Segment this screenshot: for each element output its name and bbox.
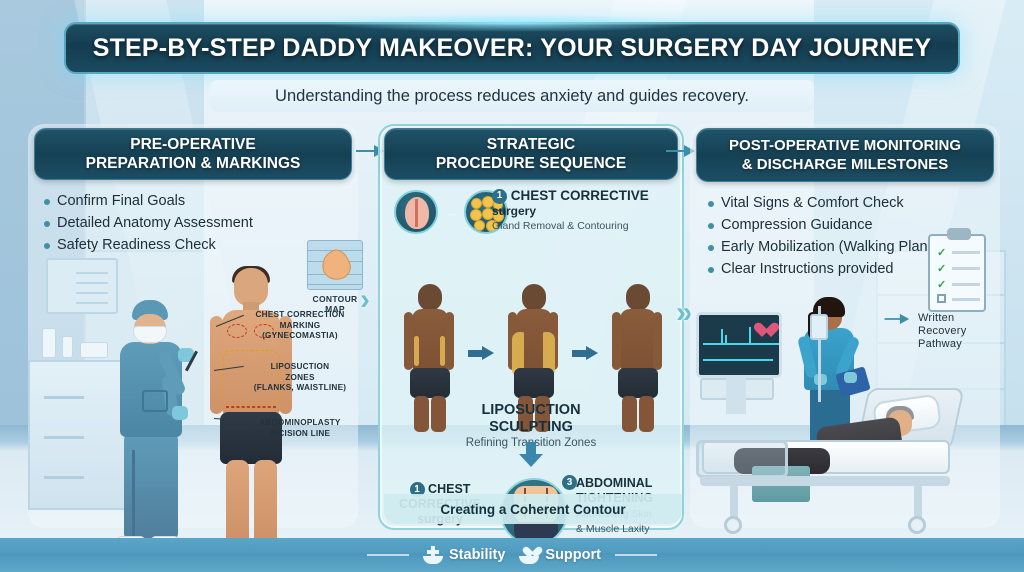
arrow-right-icon: → [444, 204, 458, 220]
panel-strategic-sequence-header: STRATEGIC PROCEDURE SEQUENCE [384, 128, 678, 180]
check-icon: ✓ [937, 246, 946, 259]
step-1-title: CHEST CORRECTIVE [511, 188, 649, 203]
footer-divider-right [615, 554, 657, 556]
arrow-step-2-to-3-icon [572, 346, 598, 360]
step-1-badge: 1 [492, 189, 507, 204]
abdominoplasty-incision-marking [226, 406, 276, 408]
page-title: STEP-BY-STEP DADDY MAKEOVER: YOUR SURGER… [93, 34, 932, 63]
arrow-step-1-to-2-icon [468, 346, 494, 360]
footer-label-support: Support [545, 547, 601, 563]
checklist-clipboard-icon: ✓ ✓ ✓ [928, 234, 986, 312]
subtitle-banner: Understanding the process reduces anxiet… [210, 80, 814, 112]
bullet-label: Safety Readiness Check [57, 236, 216, 255]
bullet-dot-icon [708, 245, 714, 251]
hand-medical-cross-icon [423, 546, 443, 564]
vitals-monitor-icon [696, 312, 782, 378]
footer-bar: Stability Support [0, 538, 1024, 572]
bullet-label: Clear Instructions provided [721, 260, 893, 279]
contour-map-icon [307, 240, 363, 290]
title-banner: STEP-BY-STEP DADDY MAKEOVER: YOUR SURGER… [64, 22, 960, 74]
panel-right-heading-line2: & DISCHARGE MILESTONES [742, 156, 948, 173]
panel-post-operative-body: Vital Signs & Comfort Check Compression … [690, 182, 1000, 279]
bullet-dot-icon [708, 267, 714, 273]
panel-mid-heading-line2: PROCEDURE SEQUENCE [436, 155, 626, 172]
empty-checkbox-icon [937, 294, 946, 303]
bullet-label: Early Mobilization (Walking Plan) [721, 238, 932, 257]
bullet-label: Vital Signs & Comfort Check [721, 194, 904, 213]
check-icon: ✓ [937, 262, 946, 275]
middle-footer-label: Creating a Coherent Contour [440, 502, 625, 517]
list-item: Detailed Anatomy Assessment [44, 214, 358, 233]
bullet-label: Compression Guidance [721, 216, 873, 235]
gland-tissue-icon [394, 190, 438, 234]
liposuction-title-line2: SCULPTING [380, 419, 682, 436]
bullet-dot-icon [44, 199, 50, 205]
bottle-icon [42, 328, 56, 358]
footer-item-support: Support [519, 546, 601, 564]
annotation-abdominoplasty: ABDOMINOPLASTY INCISION LINE [244, 418, 356, 439]
panel-pre-operative: PRE-OPERATIVE PREPARATION & MARKINGS Con… [28, 124, 358, 528]
arrow-down-icon [519, 442, 543, 468]
step-1-text-block: 1 CHEST CORRECTIVE surgery Gland Removal… [492, 188, 678, 233]
panel-mid-heading-line1: STRATEGIC [487, 136, 575, 153]
step-3-badge: 3 [562, 475, 577, 490]
panel-strategic-sequence: STRATEGIC PROCEDURE SEQUENCE → 1 [378, 124, 684, 530]
panel-left-heading-line1: PRE-OPERATIVE [130, 136, 255, 153]
bullet-dot-icon [708, 201, 714, 207]
page-subtitle: Understanding the process reduces anxiet… [275, 87, 749, 106]
footer-divider-left [367, 554, 409, 556]
annotation-chest-correction: CHEST CORRECTION MARKING (GYNECOMASTIA) [244, 310, 356, 342]
hands-heart-icon [519, 546, 539, 564]
supply-box-icon [80, 342, 108, 358]
heart-icon [755, 323, 771, 338]
bullet-label: Detailed Anatomy Assessment [57, 214, 253, 233]
chevron-left-to-middle-icon: › [360, 283, 364, 317]
middle-panel-footer: Creating a Coherent Contour [384, 494, 682, 524]
footer-item-stability: Stability [423, 546, 505, 564]
liposuction-title-line1: LIPOSUCTION [380, 402, 682, 419]
step-3-title-line1: ABDOMINAL [576, 476, 680, 491]
title-bar: STEP-BY-STEP DADDY MAKEOVER: YOUR SURGER… [64, 22, 960, 74]
step-3-description-line2: & Muscle Laxity [576, 523, 680, 536]
panel-right-heading-line1: POST-OPERATIVE MONITORING [729, 137, 961, 154]
chevron-middle-to-right-icon: » [676, 296, 687, 330]
annotation-liposuction-zones: LIPOSUCTION ZONES (FLANKS, WAISTLINE) [244, 362, 356, 394]
footer-label-stability: Stability [449, 547, 505, 563]
hospital-bed-figure [692, 392, 992, 532]
bullet-dot-icon [44, 221, 50, 227]
chest-procedure-icons: → [394, 190, 508, 234]
check-icon: ✓ [937, 278, 946, 291]
list-item: Vital Signs & Comfort Check [708, 194, 1000, 213]
leader-arrow-recovery-pathway [885, 313, 914, 325]
contour-map-figure: CONTOUR MAP [304, 240, 366, 314]
bed-caster-icon [724, 516, 742, 534]
panel-pre-operative-body: Confirm Final Goals Detailed Anatomy Ass… [28, 180, 358, 255]
step-1-description: Gland Removal & Contouring [492, 220, 678, 233]
list-item: Confirm Final Goals [44, 192, 358, 211]
bed-caster-icon [908, 516, 926, 534]
panel-post-operative-header: POST-OPERATIVE MONITORING & DISCHARGE MI… [696, 128, 994, 182]
step-1-subtitle: surgery [492, 204, 678, 219]
bullet-dot-icon [44, 243, 50, 249]
iv-bag-icon [810, 314, 828, 340]
surgeon-figure [106, 300, 194, 550]
panel-pre-operative-header: PRE-OPERATIVE PREPARATION & MARKINGS [34, 128, 352, 180]
bed-side-rail [696, 440, 788, 478]
bullet-dot-icon [708, 223, 714, 229]
panel-left-heading-line2: PREPARATION & MARKINGS [86, 155, 301, 172]
panel-post-operative: POST-OPERATIVE MONITORING & DISCHARGE MI… [690, 124, 1000, 528]
contour-map-blob-icon [318, 246, 354, 283]
bottle-icon [62, 336, 73, 358]
bullet-label: Confirm Final Goals [57, 192, 185, 211]
clipboard-clip-icon [947, 228, 971, 240]
annotation-written-recovery-pathway: Written Recovery Pathway [918, 312, 994, 351]
